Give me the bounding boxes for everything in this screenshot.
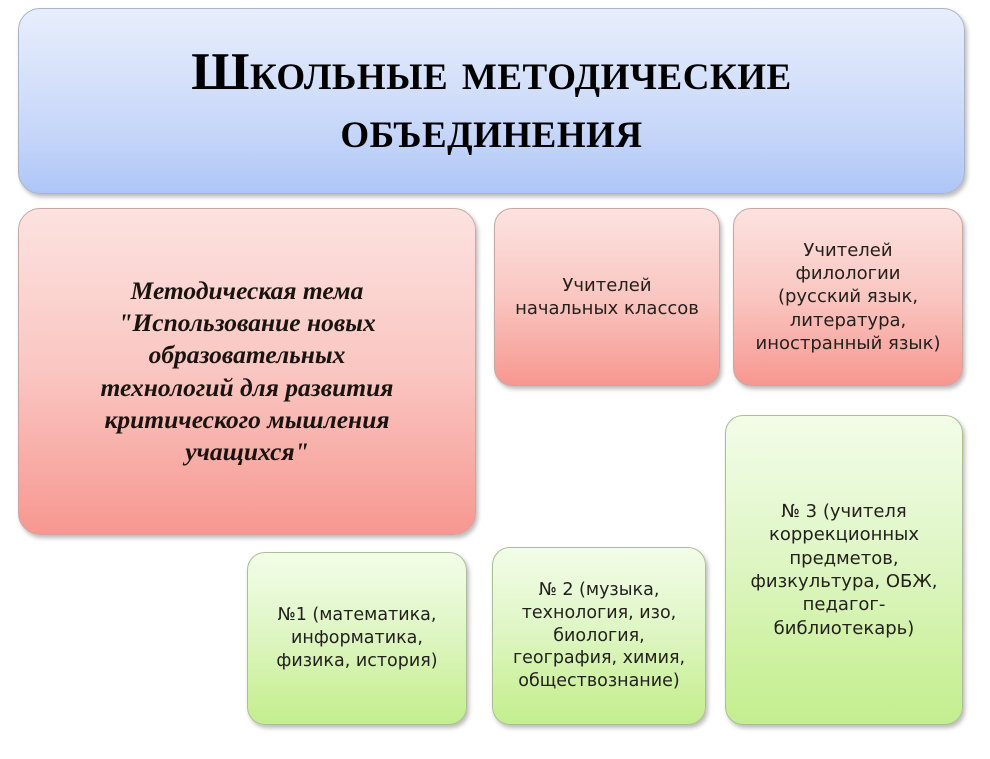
unit-mo-3-box: № 3 (учителя коррекционных предметов, фи… (725, 415, 963, 725)
association-philology-teachers-box: Учителей филологии (русский язык, литера… (733, 208, 963, 386)
association-primary-teachers-box: Учителей начальных классов (494, 208, 720, 386)
diagram-canvas: Школьные методические объединения Методи… (0, 0, 990, 759)
methodical-theme-box: Методическая тема "Использование новых о… (18, 208, 476, 535)
association-primary-teachers-text: Учителей начальных классов (515, 274, 699, 321)
unit-mo-1-text: №1 (математика, информатика, физика, ист… (276, 604, 437, 672)
unit-mo-2-box: № 2 (музыка, технология, изо, биология, … (492, 547, 706, 725)
unit-mo-1-box: №1 (математика, информатика, физика, ист… (247, 552, 467, 725)
association-philology-teachers-text: Учителей филологии (русский язык, литера… (756, 239, 941, 356)
diagram-title-text: Школьные методические объединения (191, 43, 791, 160)
unit-mo-3-text: № 3 (учителя коррекционных предметов, фи… (751, 500, 938, 640)
diagram-title-box: Школьные методические объединения (18, 8, 965, 194)
methodical-theme-text: Методическая тема "Использование новых о… (101, 275, 394, 468)
unit-mo-2-text: № 2 (музыка, технология, изо, биология, … (513, 579, 685, 693)
